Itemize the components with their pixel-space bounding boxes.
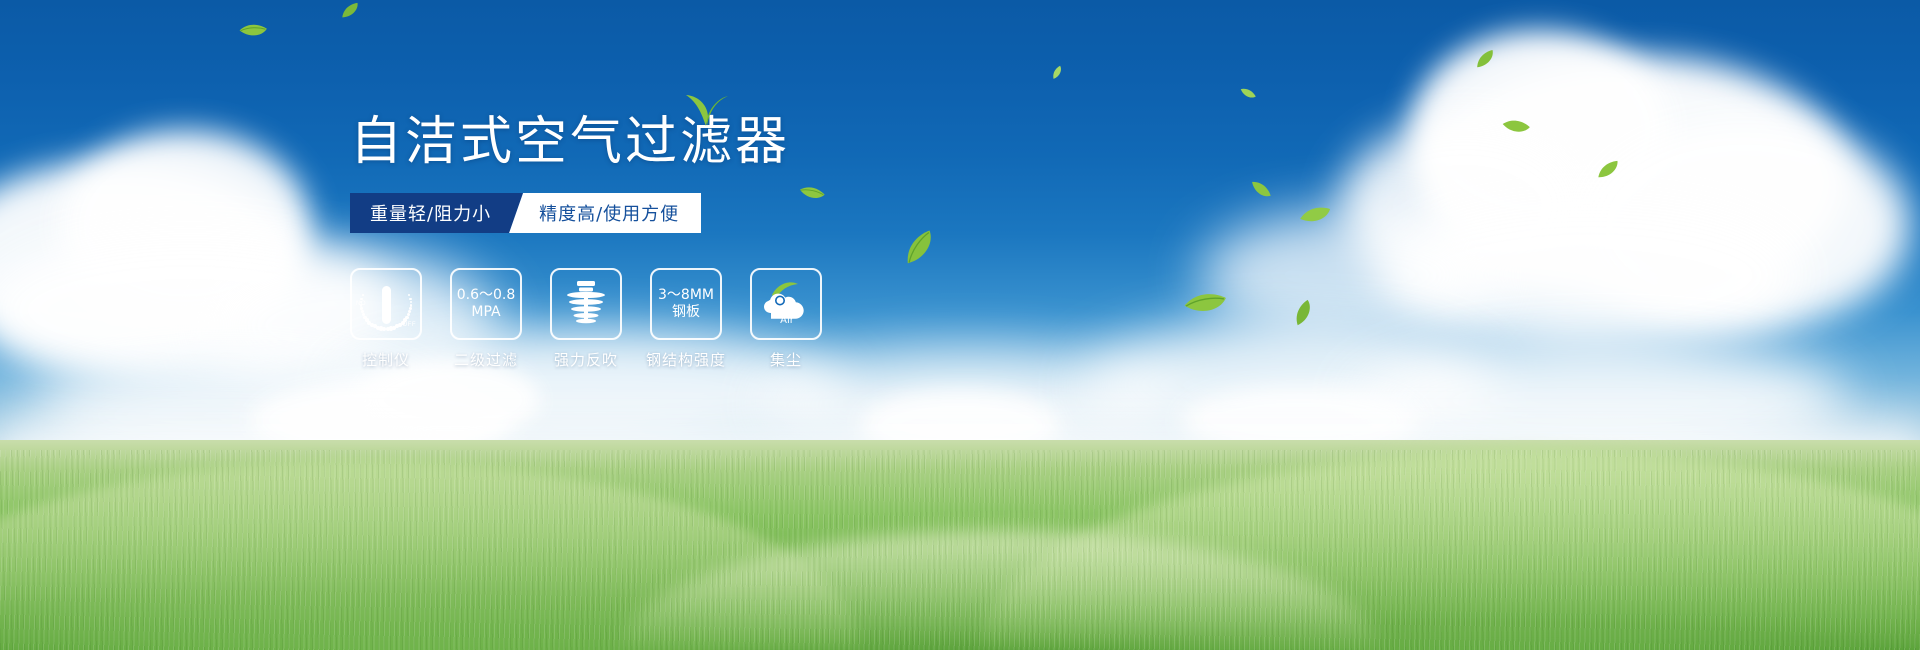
steel-plate-text-icon: 3～8MM 钢板 [658,287,714,321]
dial-tick [408,294,410,296]
cloud-shape [1200,210,1500,340]
feature-icon-box: Air [750,268,822,340]
feature-icon-row: NO OFF 控制仪 0.6～0.8 MPA 二级过滤 [350,268,822,370]
pressure-unit: MPA [457,304,516,321]
green-leaf-icon [238,17,268,42]
green-leaf-icon [1049,65,1066,80]
feature-icon-box [550,268,622,340]
cloud-shape [0,160,300,360]
dial-tick [409,307,412,310]
feature-label: 控制仪 [362,349,410,370]
grass-texture [0,450,1920,650]
page-title: 自洁式空气过滤器 [350,116,790,168]
tab-weight-resistance[interactable]: 重量轻/阻力小 [350,193,523,233]
hero-banner: 自洁式空气过滤器 重量轻/阻力小 精度高/使用方便 NO OFF [0,0,1920,650]
cloud-shape [1340,120,1590,290]
green-leaf-icon [1472,49,1497,70]
green-leaf-icon [798,179,826,206]
cloud-shape [1580,120,1910,330]
dial-tick [405,316,409,320]
green-leaf-icon [680,84,732,136]
feature-item-blowback[interactable]: 强力反吹 [550,268,622,370]
green-leaf-icon [1299,203,1332,227]
feature-icon-box: 0.6～0.8 MPA [450,268,522,340]
dial-tick [408,310,411,313]
green-leaf-icon [1239,84,1256,103]
tab-label: 重量轻/阻力小 [370,200,491,226]
tab-precision-convenience[interactable]: 精度高/使用方便 [509,193,701,233]
feature-item-filter[interactable]: 0.6～0.8 MPA 二级过滤 [450,268,522,370]
subtitle-tabs: 重量轻/阻力小 精度高/使用方便 [350,193,701,233]
feature-icon-box: NO OFF [350,268,422,340]
cloud-shape [60,130,310,320]
green-leaf-icon [1501,112,1531,140]
green-leaf-icon [339,2,362,20]
steel-thickness: 3～8MM [658,287,714,304]
green-leaf-icon [897,228,941,266]
dial-tick [362,294,364,296]
cloud-shape [1080,320,1500,450]
green-leaf-icon [1288,299,1318,328]
grass-field [0,440,1920,650]
feature-label: 集尘 [770,349,802,370]
green-leaf-icon [1250,176,1272,202]
feature-label: 钢结构强度 [646,349,726,370]
cloud-shape [1420,55,1850,305]
cloud-shape [360,360,540,440]
control-dial-icon: NO OFF [357,275,415,333]
cloud-shape [1410,30,1670,230]
feature-label: 二级过滤 [454,349,518,370]
dial-tick [403,318,407,322]
tab-label: 精度高/使用方便 [539,200,679,226]
air-label: Air [780,315,795,326]
feature-label: 强力反吹 [554,349,618,370]
feature-icon-box: 3～8MM 钢板 [650,268,722,340]
cloud-shape [1380,200,1800,350]
dial-needle [382,286,391,324]
green-leaf-icon [1595,160,1622,180]
dial-tick [410,301,412,303]
dial-tick [360,298,362,300]
pressure-value: 0.6～0.8 [457,287,516,304]
feature-item-control[interactable]: NO OFF 控制仪 [350,268,422,370]
pressure-text-icon: 0.6～0.8 MPA [457,287,516,321]
air-cloud-icon: Air [758,281,814,327]
dial-tick [409,298,411,300]
cloud-shape [0,230,400,390]
green-leaf-icon [1182,284,1228,320]
feature-item-dust[interactable]: Air 集尘 [750,268,822,370]
steel-material: 钢板 [658,304,714,321]
feature-item-steel[interactable]: 3～8MM 钢板 钢结构强度 [650,268,722,370]
dial-tick [407,313,410,316]
dial-tick [410,304,413,307]
blowback-filter-icon [564,279,608,330]
